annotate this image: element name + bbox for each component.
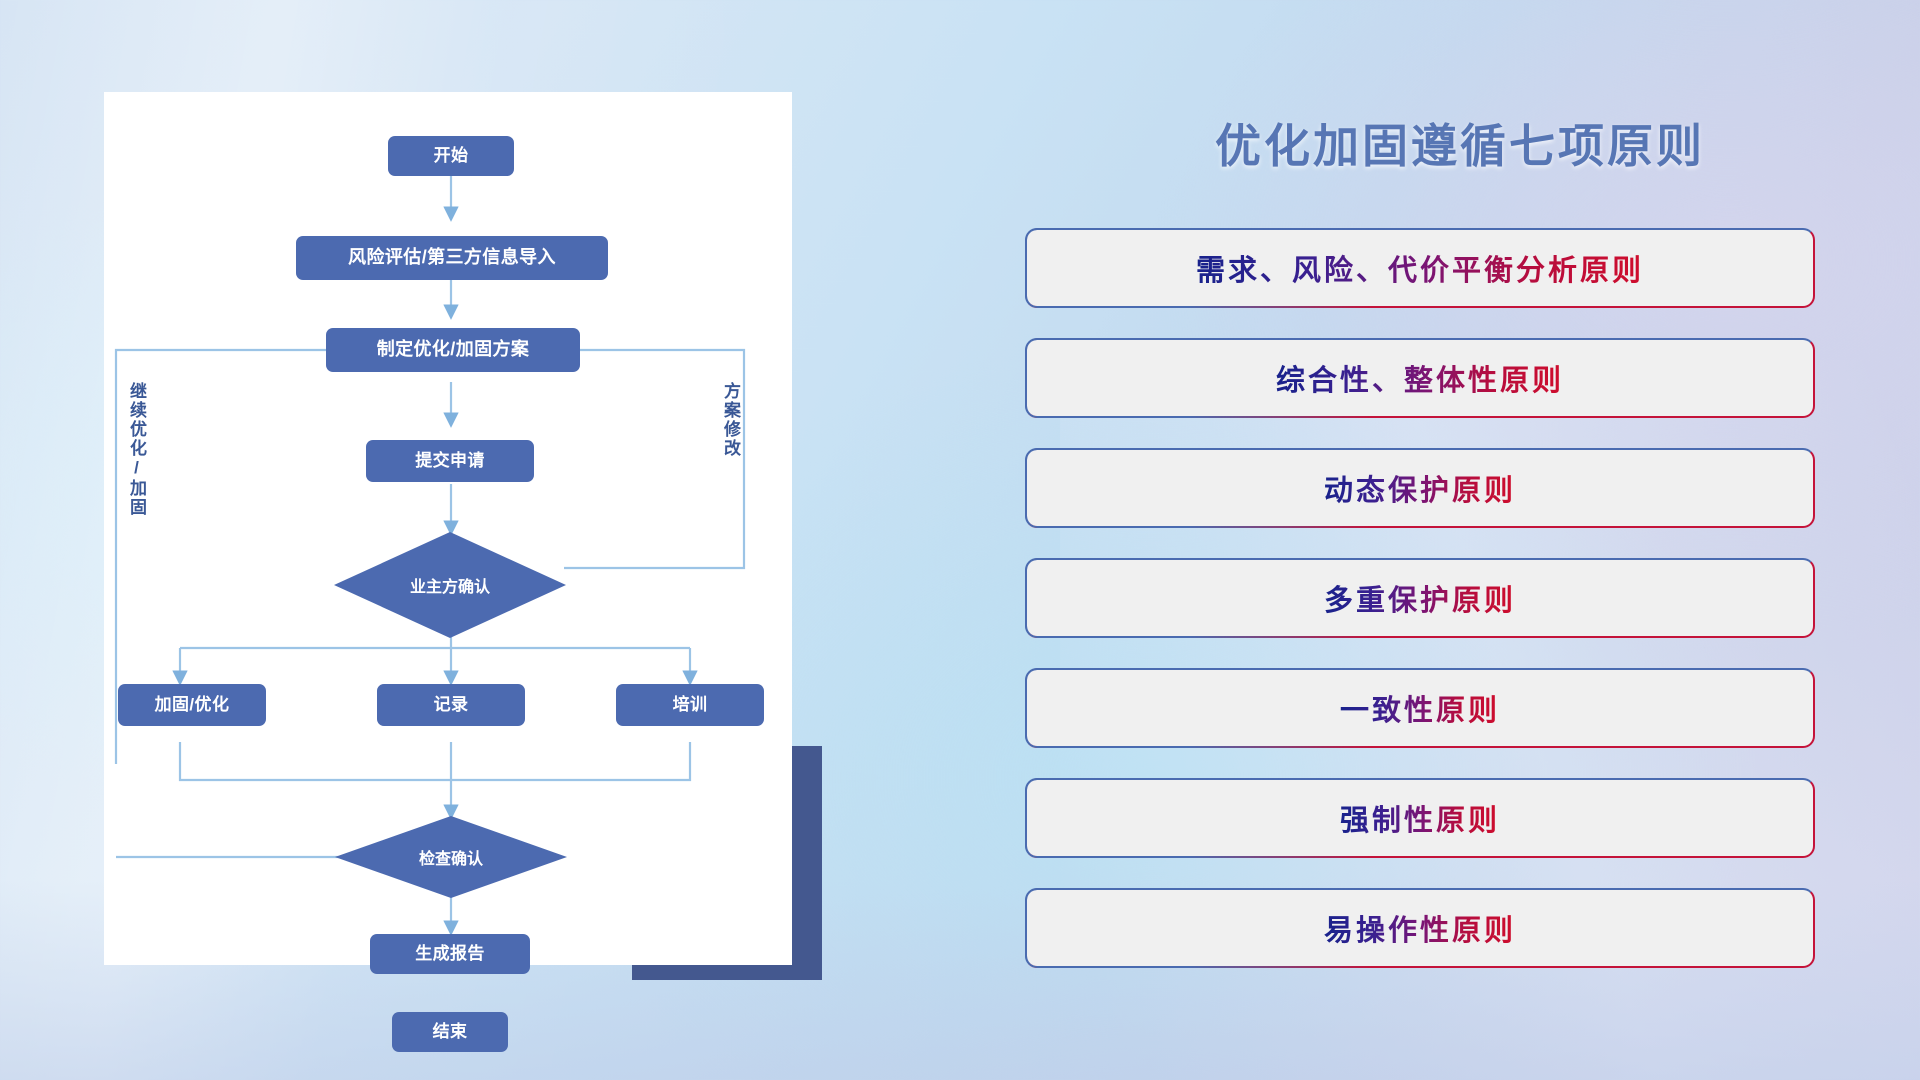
flow-node-label: 业主方确认: [410, 573, 490, 597]
flow-node-label: 记录: [434, 696, 469, 715]
page-title: 优化加固遵循七项原则: [1140, 110, 1780, 176]
flow-edge-label-plan-revision: 方案修改: [722, 382, 739, 458]
principle-card[interactable]: 易操作性原则: [1025, 888, 1815, 968]
principle-label: 多重保护原则: [1324, 577, 1516, 619]
flow-node-reinforce-optimize[interactable]: 加固/优化: [118, 684, 266, 726]
flow-node-label: 风险评估/第三方信息导入: [348, 248, 556, 268]
principles-pane: 优化加固遵循七项原则 需求、风险、代价平衡分析原则 综合性、整体性原则 动态保护…: [1010, 0, 1900, 1080]
flowchart-card: 开始 风险评估/第三方信息导入 制定优化/加固方案 提交申请 业主方确认 加固/…: [104, 92, 792, 965]
flow-node-label: 加固/优化: [155, 696, 230, 715]
flow-node-label: 培训: [673, 696, 708, 715]
principle-card[interactable]: 一致性原则: [1025, 668, 1815, 748]
principle-label: 一致性原则: [1340, 687, 1500, 729]
flow-node-record[interactable]: 记录: [377, 684, 525, 726]
principle-card[interactable]: 强制性原则: [1025, 778, 1815, 858]
flow-node-risk-assessment[interactable]: 风险评估/第三方信息导入: [296, 236, 608, 280]
flow-node-label: 提交申请: [415, 452, 485, 471]
flow-node-label: 制定优化/加固方案: [377, 340, 530, 360]
flow-node-label: 开始: [434, 147, 469, 166]
flow-node-label: 结束: [433, 1023, 468, 1042]
principle-card[interactable]: 需求、风险、代价平衡分析原则: [1025, 228, 1815, 308]
principle-label: 强制性原则: [1340, 797, 1500, 839]
flow-node-label: 检查确认: [419, 845, 483, 869]
flow-node-submit-application[interactable]: 提交申请: [366, 440, 534, 482]
flow-node-training[interactable]: 培训: [616, 684, 764, 726]
principle-card[interactable]: 综合性、整体性原则: [1025, 338, 1815, 418]
principle-label: 动态保护原则: [1324, 467, 1516, 509]
principle-label: 需求、风险、代价平衡分析原则: [1196, 247, 1644, 289]
flow-node-end[interactable]: 结束: [392, 1012, 508, 1052]
flow-node-start[interactable]: 开始: [388, 136, 514, 176]
flow-edge-label-continue-optimize: 继续优化/加固: [128, 382, 145, 517]
principle-card[interactable]: 多重保护原则: [1025, 558, 1815, 638]
flow-node-generate-report[interactable]: 生成报告: [370, 934, 530, 974]
principle-label: 易操作性原则: [1324, 907, 1516, 949]
principle-card[interactable]: 动态保护原则: [1025, 448, 1815, 528]
principle-label: 综合性、整体性原则: [1276, 357, 1564, 399]
principles-list: 需求、风险、代价平衡分析原则 综合性、整体性原则 动态保护原则 多重保护原则 一…: [1025, 228, 1815, 998]
flow-node-make-plan[interactable]: 制定优化/加固方案: [326, 328, 580, 372]
flow-node-label: 生成报告: [415, 945, 485, 964]
